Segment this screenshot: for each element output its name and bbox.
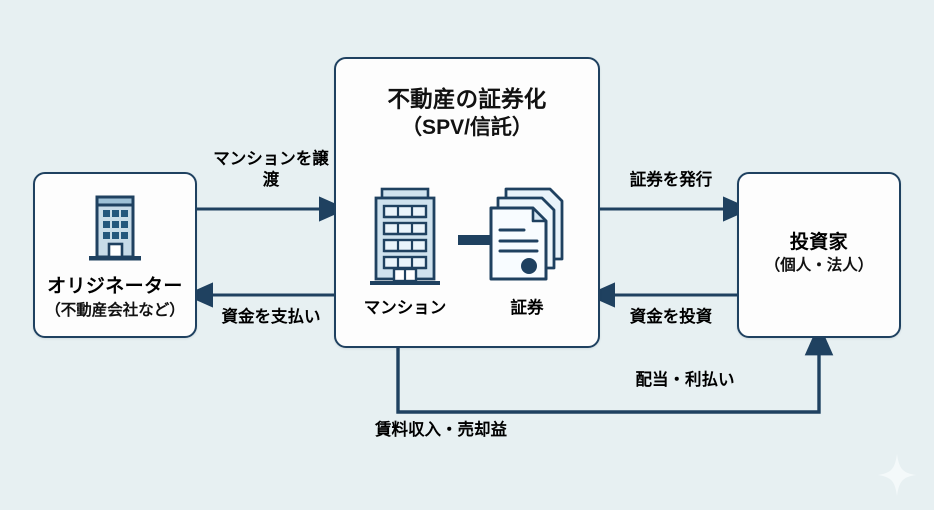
- originator-subtitle: （不動産会社など）: [35, 301, 195, 320]
- office-building-icon: [84, 190, 146, 266]
- apartment-building-icon: [350, 185, 460, 289]
- mansion-caption: マンション: [350, 294, 460, 318]
- edge-label-dividend: 配当・利払い: [605, 370, 765, 391]
- spv-item-securities: 証券: [468, 185, 586, 318]
- node-investor[interactable]: 投資家 （個人・法人）: [737, 172, 901, 338]
- node-originator[interactable]: オリジネーター （不動産会社など）: [33, 172, 197, 338]
- scheme-diagram: オリジネーター （不動産会社など） 不動産の証券化 （SPV/信託）: [0, 0, 934, 510]
- spv-title-line1: 不動産の証券化: [336, 85, 598, 114]
- originator-title: オリジネーター: [35, 276, 195, 298]
- securities-caption: 証券: [468, 294, 586, 318]
- spv-title-line2: （SPV/信託）: [336, 114, 598, 141]
- edge-label-issue: 証券を発行: [607, 170, 735, 191]
- sparkle-icon: [877, 453, 917, 497]
- edge-label-payment: 資金を支払い: [207, 307, 335, 328]
- investor-title: 投資家: [739, 232, 899, 254]
- node-spv[interactable]: 不動産の証券化 （SPV/信託）: [334, 57, 600, 348]
- spv-heading: 不動産の証券化 （SPV/信託）: [336, 85, 598, 142]
- stacked-documents-icon: [468, 185, 586, 289]
- spv-item-mansion: マンション: [350, 185, 460, 318]
- investor-subtitle: （個人・法人）: [739, 257, 899, 276]
- edge-label-transfer: マンションを譲渡: [207, 149, 335, 191]
- edge-label-rent: 賃料収入・売却益: [375, 420, 575, 441]
- edge-label-invest: 資金を投資: [607, 307, 735, 328]
